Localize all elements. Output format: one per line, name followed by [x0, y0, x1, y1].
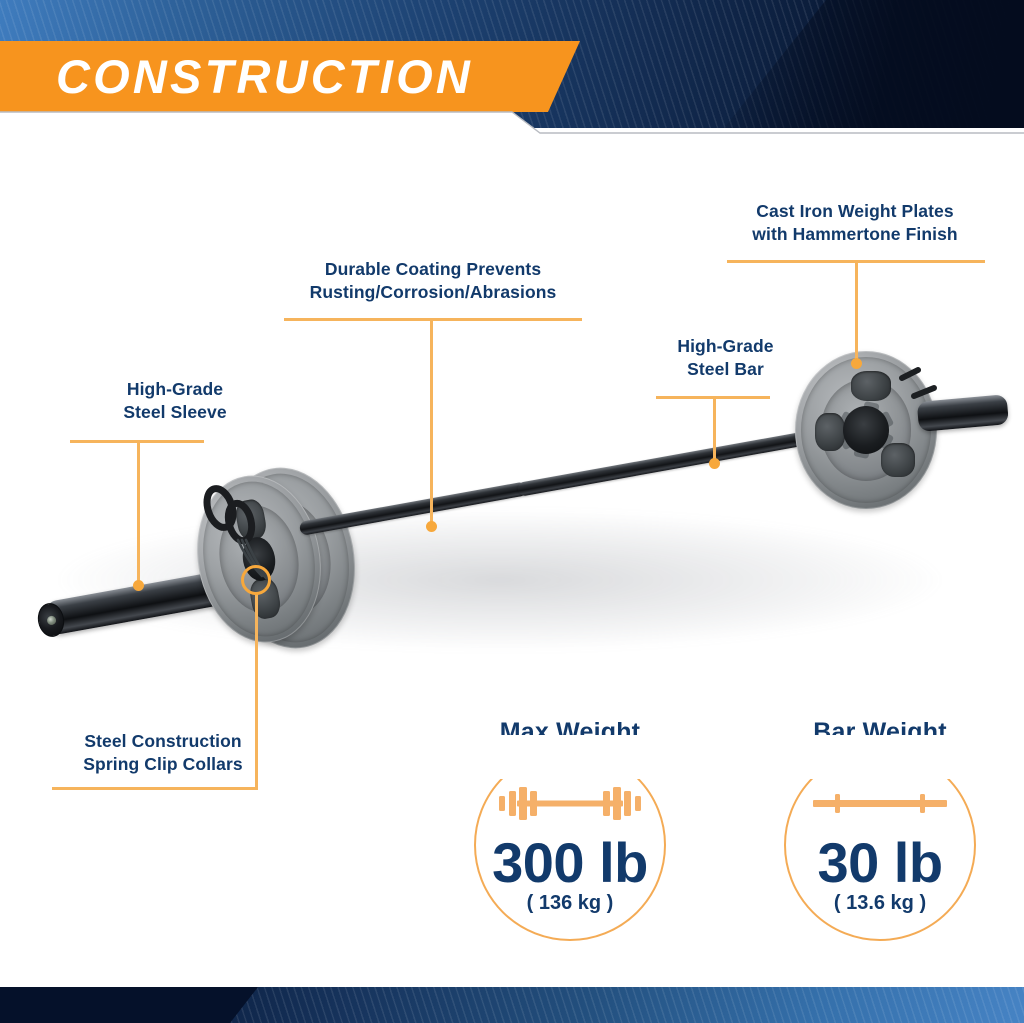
barbell-icon — [495, 783, 645, 828]
stat-bar-weight: Bar Weight 30 lb ( 13.6 kg ) — [765, 720, 995, 941]
callout-ring-collars — [241, 565, 271, 595]
bar-end-screw-left — [46, 615, 56, 625]
stat-value: 30 lb — [817, 836, 942, 889]
stat-max-weight: Max Weight — [455, 720, 685, 941]
callout-leader-sleeve — [137, 440, 140, 584]
callout-high-grade-steel-sleeve: High-Grade Steel Sleeve — [60, 378, 290, 424]
callout-rule-coating — [284, 318, 582, 321]
page-title: CONSTRUCTION — [0, 53, 473, 100]
stat-circle: 30 lb ( 13.6 kg ) — [784, 749, 976, 941]
callout-line-1: Cast Iron Weight Plates — [724, 200, 986, 223]
stat-circle: 300 lb ( 136 kg ) — [474, 749, 666, 941]
footer-band — [0, 987, 1024, 1023]
stats-row: Max Weight — [0, 712, 1024, 952]
callout-dot-sleeve — [133, 580, 144, 591]
callout-durable-coating: Durable Coating Prevents Rusting/Corrosi… — [273, 258, 593, 304]
callout-line-1: High-Grade — [648, 335, 803, 358]
callout-cast-iron-weight-plates: Cast Iron Weight Plates with Hammertone … — [724, 200, 986, 246]
callout-high-grade-steel-bar: High-Grade Steel Bar — [648, 335, 803, 381]
callout-dot-steel-bar — [709, 458, 720, 469]
header-dark-wedge — [724, 0, 1024, 128]
steel-bar-shaft — [517, 428, 825, 497]
callout-line-1: High-Grade — [60, 378, 290, 401]
callout-line-2: Steel Bar — [648, 358, 803, 381]
callout-leader-plates — [855, 260, 858, 361]
infographic-page: CONSTRUCTION — [0, 0, 1024, 1023]
plate-grip-hole — [815, 413, 845, 451]
callout-line-2: Steel Sleeve — [60, 401, 290, 424]
callout-dot-plates — [851, 358, 862, 369]
stat-subvalue: ( 13.6 kg ) — [834, 893, 926, 913]
steel-sleeve-right — [917, 394, 1009, 432]
plate-center-hub — [843, 406, 889, 454]
callout-line-1: Durable Coating Prevents — [273, 258, 593, 281]
stat-subvalue: ( 136 kg ) — [527, 893, 614, 913]
title-banner: CONSTRUCTION — [0, 41, 580, 112]
footer-white-gap — [0, 979, 1024, 987]
plate-grip-hole — [851, 371, 891, 401]
callout-line-2: with Hammertone Finish — [724, 223, 986, 246]
callout-leader-coating — [430, 318, 433, 524]
callout-dot-coating — [426, 521, 437, 532]
plate-grip-hole — [881, 443, 915, 477]
callout-line-2: Rusting/Corrosion/Abrasions — [273, 281, 593, 304]
stat-value: 300 lb — [492, 836, 648, 889]
bar-icon — [805, 783, 955, 828]
callout-leader-steel-bar — [713, 396, 716, 462]
